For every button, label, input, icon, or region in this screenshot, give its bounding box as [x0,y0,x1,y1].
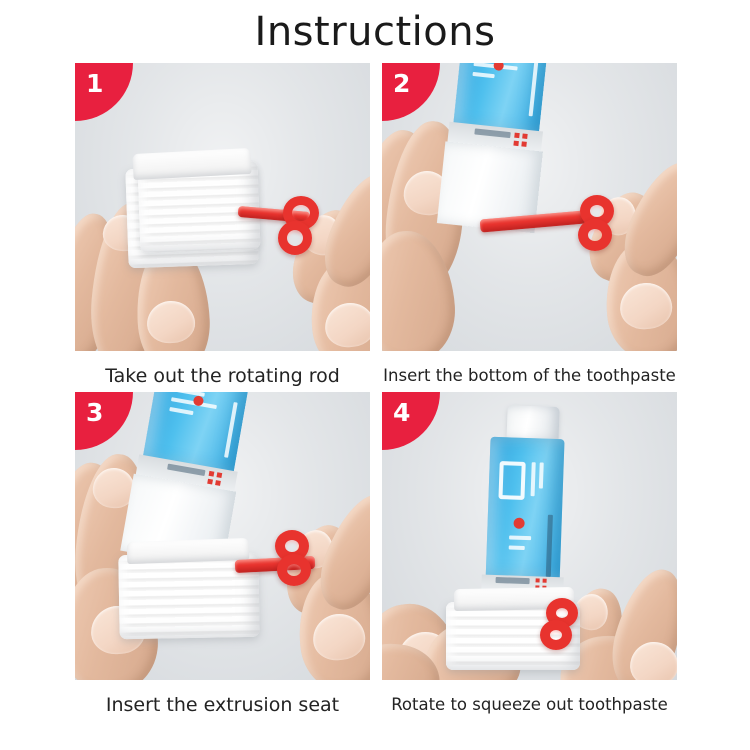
rod-loop-1b [278,221,312,255]
step-badge-3: 3 [75,392,133,450]
step-photo-1: 1 [75,63,370,351]
step-number-3: 3 [86,399,103,427]
step-badge-4: 4 [382,392,440,450]
step-number-2: 2 [393,70,410,98]
rod-loop-3b [277,554,311,586]
step-card-3: 3 Insert the extrusion seat [75,392,370,718]
page-title: Instructions [0,8,750,56]
step-caption-2: Insert the bottom of the toothpaste [382,363,677,389]
step-card-2: 2 Insert the bottom of the toothpaste [382,63,677,389]
step-badge-2: 2 [382,63,440,121]
step-caption-3: Insert the extrusion seat [75,692,370,718]
step-caption-1: Take out the rotating rod [75,363,370,389]
steps-grid: 1 Take out the rotating rod [75,63,677,735]
step-number-1: 1 [86,70,103,98]
squeezer-lip-3 [127,538,250,564]
step-badge-1: 1 [75,63,133,121]
step-photo-3: 3 [75,392,370,680]
step-card-1: 1 Take out the rotating rod [75,63,370,389]
rod-loop-2b [578,219,612,251]
step-photo-2: 2 [382,63,677,351]
step-number-4: 4 [393,399,410,427]
rod-loop-4b [540,620,572,650]
instructions-page: Instructions [0,0,750,750]
step-caption-4: Rotate to squeeze out toothpaste [382,692,677,718]
step-photo-4: 4 [382,392,677,680]
step-card-4: 4 Rotate to squeeze out toothpaste [382,392,677,718]
